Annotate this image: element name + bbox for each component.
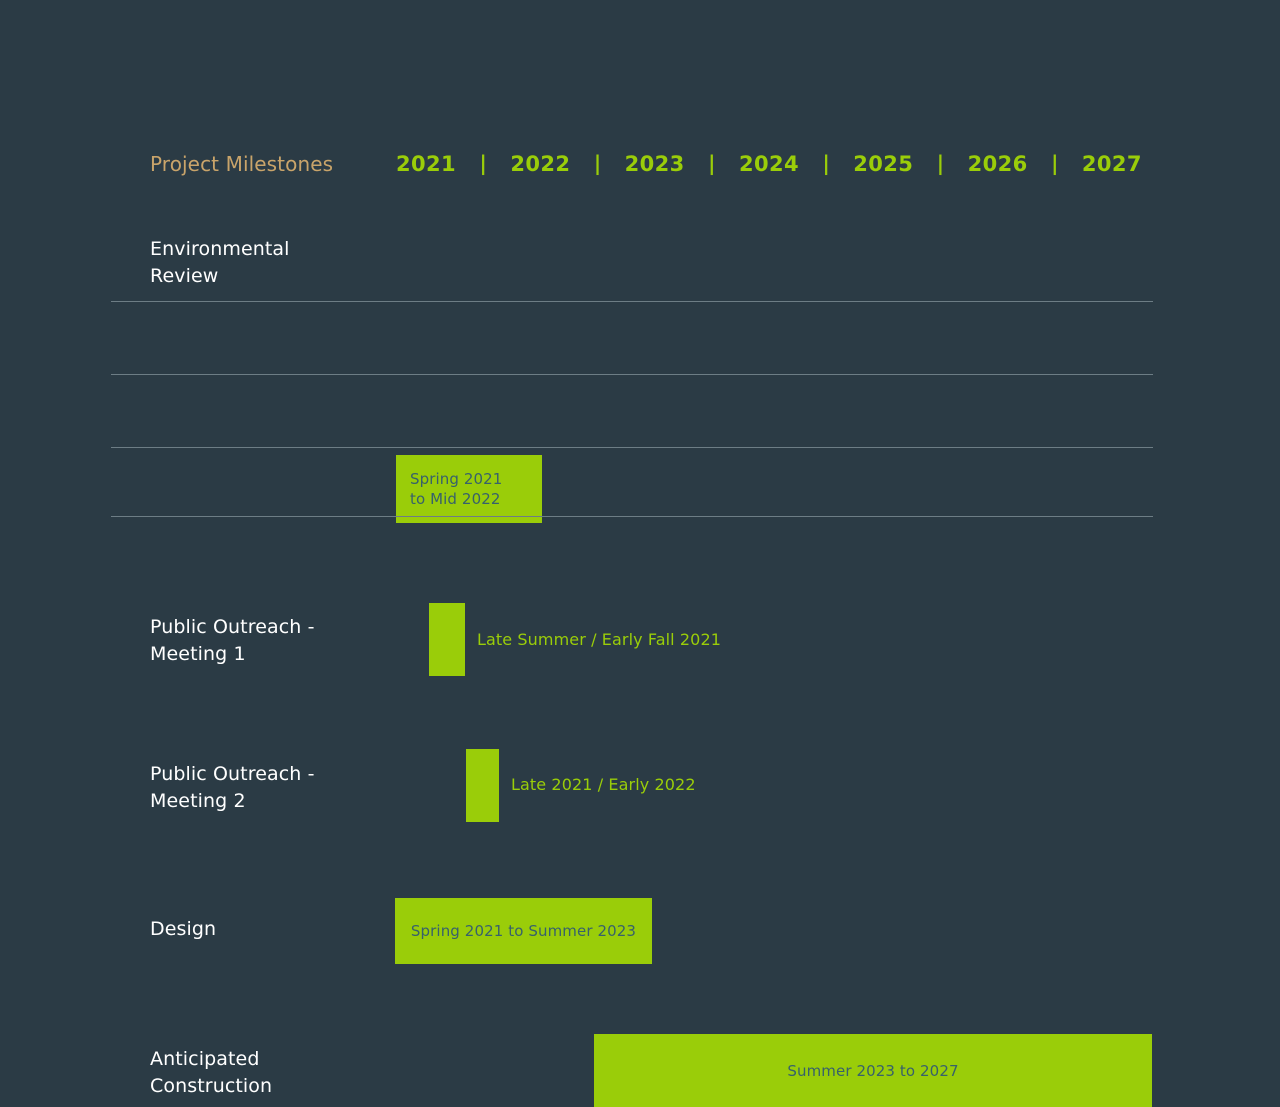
row-label-public-outreach-meeting-2: Public Outreach - Meeting 2 [150,761,315,815]
gantt-bar-label-design: Spring 2021 to Summer 2023 [395,921,652,941]
row-label-anticipated-construction: Anticipated Construction [150,1046,272,1100]
task-rows: Environmental Review Spring 2021 to Mid … [0,0,1280,720]
row-label-design: Design [150,916,216,943]
gantt-label-public-outreach-meeting-1: Late Summer / Early Fall 2021 [477,630,721,650]
table-row: Anticipated Construction Summer 2023 to … [0,517,1280,592]
gantt-bar-design[interactable]: Spring 2021 to Summer 2023 [395,898,652,964]
row-label-environmental-review: Environmental Review [150,236,290,290]
table-row: Public Outreach - Meeting 2 Late 2021 / … [0,375,1280,447]
table-row: Public Outreach - Meeting 1 Late Summer … [0,302,1280,374]
gantt-chart: Project Milestones 2021 | 2022 | 2023 | … [0,0,1280,720]
gantt-bar-label-anticipated-construction: Summer 2023 to 2027 [594,1061,1152,1081]
row-label-public-outreach-meeting-1: Public Outreach - Meeting 1 [150,614,315,668]
gantt-bar-public-outreach-meeting-1[interactable] [429,603,465,676]
table-row: Environmental Review Spring 2021 to Mid … [0,222,1280,300]
table-row: Design Spring 2021 to Summer 2023 [0,448,1280,516]
gantt-bar-public-outreach-meeting-2[interactable] [466,749,499,822]
gantt-label-public-outreach-meeting-2: Late 2021 / Early 2022 [511,775,696,795]
gantt-bar-anticipated-construction[interactable]: Summer 2023 to 2027 [594,1034,1152,1107]
